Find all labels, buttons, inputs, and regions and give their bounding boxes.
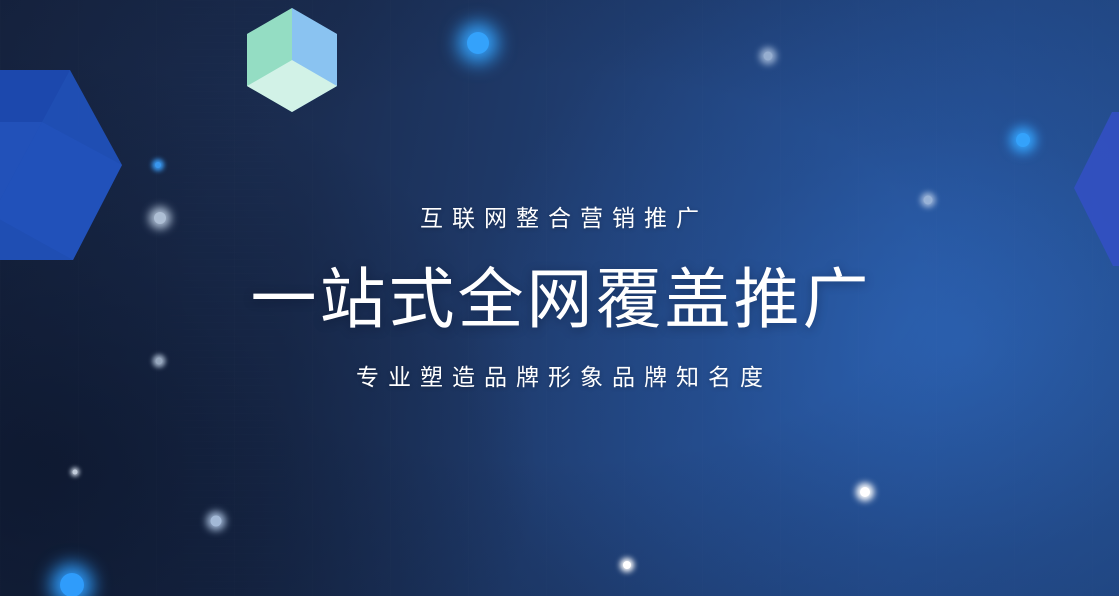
- banner-content: 互联网整合营销推广 一站式全网覆盖推广 专业塑造品牌形象品牌知名度: [0, 0, 1119, 596]
- tagline-bottom: 专业塑造品牌形象品牌知名度: [347, 366, 772, 389]
- promo-banner: 互联网整合营销推广 一站式全网覆盖推广 专业塑造品牌形象品牌知名度: [0, 0, 1119, 596]
- headline: 一站式全网覆盖推广: [248, 266, 872, 332]
- tagline-top: 互联网整合营销推广: [411, 207, 708, 230]
